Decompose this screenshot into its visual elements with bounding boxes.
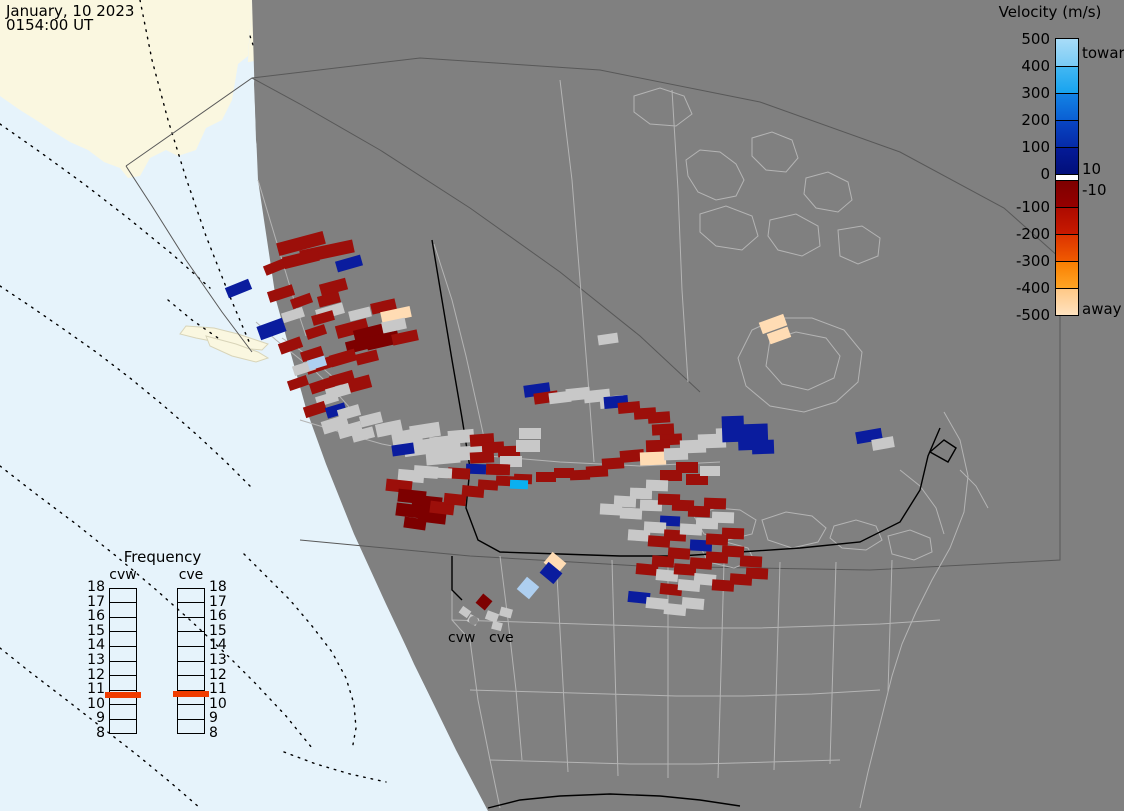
velocity-cell (700, 466, 720, 476)
colorbar-band-separator (1056, 234, 1078, 235)
velocity-cell (287, 375, 309, 391)
colorbar-band (1056, 234, 1078, 261)
velocity-cell (281, 307, 305, 323)
time-label: 0154:00 UT (6, 18, 93, 33)
colorbar-band-separator (1056, 147, 1078, 148)
velocity-cell (476, 594, 493, 611)
velocity-cell (682, 597, 705, 610)
velocity-cell (516, 440, 540, 452)
velocity-cell (536, 472, 556, 482)
frequency-scale-gridline (110, 690, 136, 691)
frequency-tick-label: 18 (209, 579, 231, 595)
frequency-legend-title: Frequency (95, 548, 230, 566)
colorbar-band-separator (1056, 120, 1078, 121)
frequency-tick-label: 15 (83, 623, 105, 639)
velocity-cell (519, 428, 541, 439)
frequency-tick-label: 13 (209, 652, 231, 668)
velocity-cell (871, 436, 895, 451)
frequency-scale-gridline (110, 661, 136, 662)
frequency-tick-label: 14 (209, 637, 231, 653)
radar-map-figure: cvw cve January, 10 2023 0154:00 UT Velo… (0, 0, 1124, 811)
velocity-cell (225, 279, 252, 299)
frequency-tick-label: 11 (83, 681, 105, 697)
colorbar-tick-label: -300 (982, 252, 1050, 270)
frequency-scale-gridline (178, 602, 204, 603)
frequency-scale-gridline (178, 646, 204, 647)
velocity-cell (752, 440, 774, 455)
colorbar-band (1056, 207, 1078, 234)
velocity-cell (486, 464, 510, 476)
frequency-tick-label: 15 (209, 623, 231, 639)
frequency-scale-gridline (110, 617, 136, 618)
colorbar-band-separator (1056, 207, 1078, 208)
velocity-cell (740, 555, 763, 567)
velocity-cell (722, 528, 744, 540)
frequency-tick-label: 17 (209, 594, 231, 610)
velocity-cell (329, 349, 357, 368)
frequency-tick-label: 8 (83, 725, 105, 741)
frequency-scale-gridline (178, 704, 204, 705)
frequency-tick-label: 9 (209, 710, 231, 726)
colorbar-tick-label: 400 (982, 57, 1050, 75)
frequency-tick-label: 18 (83, 579, 105, 595)
velocity-cell (305, 324, 327, 340)
frequency-tick-label: 9 (83, 710, 105, 726)
frequency-scale-gridline (110, 719, 136, 720)
colorbar-band (1056, 39, 1078, 66)
velocity-cell (517, 577, 540, 600)
colorbar-tick-label: -400 (982, 279, 1050, 297)
velocity-cell (648, 411, 671, 424)
velocity-cell (510, 480, 528, 490)
frequency-scale-gridline (110, 631, 136, 632)
frequency-legend-panel: Frequency cvw cve 18171615141312111098 1… (95, 548, 230, 788)
colorbar-band (1056, 66, 1078, 93)
colorbar-side-labels: toward10-10away (1082, 0, 1124, 330)
station-label-cvw: cvw (448, 630, 475, 646)
velocity-colorbar-panel: Velocity (m/s) 5004003002001000-100-200-… (980, 0, 1124, 330)
frequency-scale-gridline (110, 602, 136, 603)
frequency-scale-gridline (178, 719, 204, 720)
colorbar-band-separator (1056, 288, 1078, 289)
velocity-cell (704, 498, 726, 510)
frequency-scale-gridline (110, 646, 136, 647)
colorbar-tick-label: -200 (982, 225, 1050, 243)
colorbar-band (1056, 261, 1078, 288)
colorbar-band (1056, 147, 1078, 174)
frequency-scale-cvw (109, 588, 137, 734)
colorbar-band (1056, 288, 1078, 315)
velocity-cell (600, 503, 623, 515)
colorbar-negative-threshold: -10 (1082, 181, 1107, 199)
colorbar-tick-label: 100 (982, 138, 1050, 156)
colorbar-tick-label: -100 (982, 198, 1050, 216)
frequency-tick-label: 10 (83, 696, 105, 712)
velocity-cell (640, 452, 666, 466)
velocity-cell (335, 255, 363, 273)
frequency-scale-gridline (178, 631, 204, 632)
colorbar-tick-label: 0 (982, 165, 1050, 183)
frequency-tick-label: 10 (209, 696, 231, 712)
velocity-cell (628, 529, 651, 542)
frequency-tick-label: 16 (83, 608, 105, 624)
velocity-cell (746, 567, 769, 579)
colorbar-tick-labels: 5004003002001000-100-200-300-400-500 (980, 0, 1050, 330)
station-label-cve: cve (489, 630, 514, 646)
frequency-scale-gridline (178, 617, 204, 618)
frequency-tick-label: 17 (83, 594, 105, 610)
colorbar-tick-label: 300 (982, 84, 1050, 102)
frequency-tick-label: 14 (83, 637, 105, 653)
frequency-scale-gridline (178, 661, 204, 662)
colorbar-away-label: away (1082, 300, 1122, 318)
frequency-tick-label: 16 (209, 608, 231, 624)
frequency-value-bar-cvw (105, 692, 141, 698)
frequency-scale-gridline (178, 675, 204, 676)
radar-site-marker (469, 616, 478, 625)
frequency-column-header-cvw: cvw (103, 567, 143, 583)
velocity-cell (712, 512, 734, 524)
colorbar-band-separator (1056, 261, 1078, 262)
frequency-tick-label: 12 (83, 667, 105, 683)
frequency-tick-label: 8 (209, 725, 231, 741)
colorbar-band-separator (1056, 180, 1078, 181)
colorbar-gradient-box (1055, 38, 1079, 316)
colorbar-toward-label: toward (1082, 44, 1124, 62)
frequency-value-bar-cve (173, 691, 209, 697)
colorbar-tick-label: -500 (982, 306, 1050, 324)
colorbar-band (1056, 93, 1078, 120)
frequency-tick-label: 11 (209, 681, 231, 697)
velocity-cell (597, 333, 618, 346)
colorbar-band-separator (1056, 174, 1078, 175)
colorbar-band-separator (1056, 66, 1078, 67)
frequency-scale-gridline (110, 675, 136, 676)
velocity-cell (499, 607, 513, 619)
colorbar-band (1056, 120, 1078, 147)
velocity-cell (303, 401, 327, 418)
frequency-column-header-cve: cve (171, 567, 211, 583)
velocity-cell (355, 350, 379, 366)
colorbar-band (1056, 180, 1078, 207)
frequency-scale-cve (177, 588, 205, 734)
colorbar-tick-label: 500 (982, 30, 1050, 48)
frequency-scale-gridline (110, 704, 136, 705)
colorbar-band-separator (1056, 93, 1078, 94)
velocity-cell (470, 451, 495, 463)
frequency-tick-label: 12 (209, 667, 231, 683)
velocity-cell (256, 318, 286, 340)
colorbar-positive-threshold: 10 (1082, 160, 1101, 178)
velocity-cell (403, 517, 426, 531)
frequency-tick-label: 13 (83, 652, 105, 668)
colorbar-tick-label: 200 (982, 111, 1050, 129)
velocity-cell (636, 563, 659, 576)
